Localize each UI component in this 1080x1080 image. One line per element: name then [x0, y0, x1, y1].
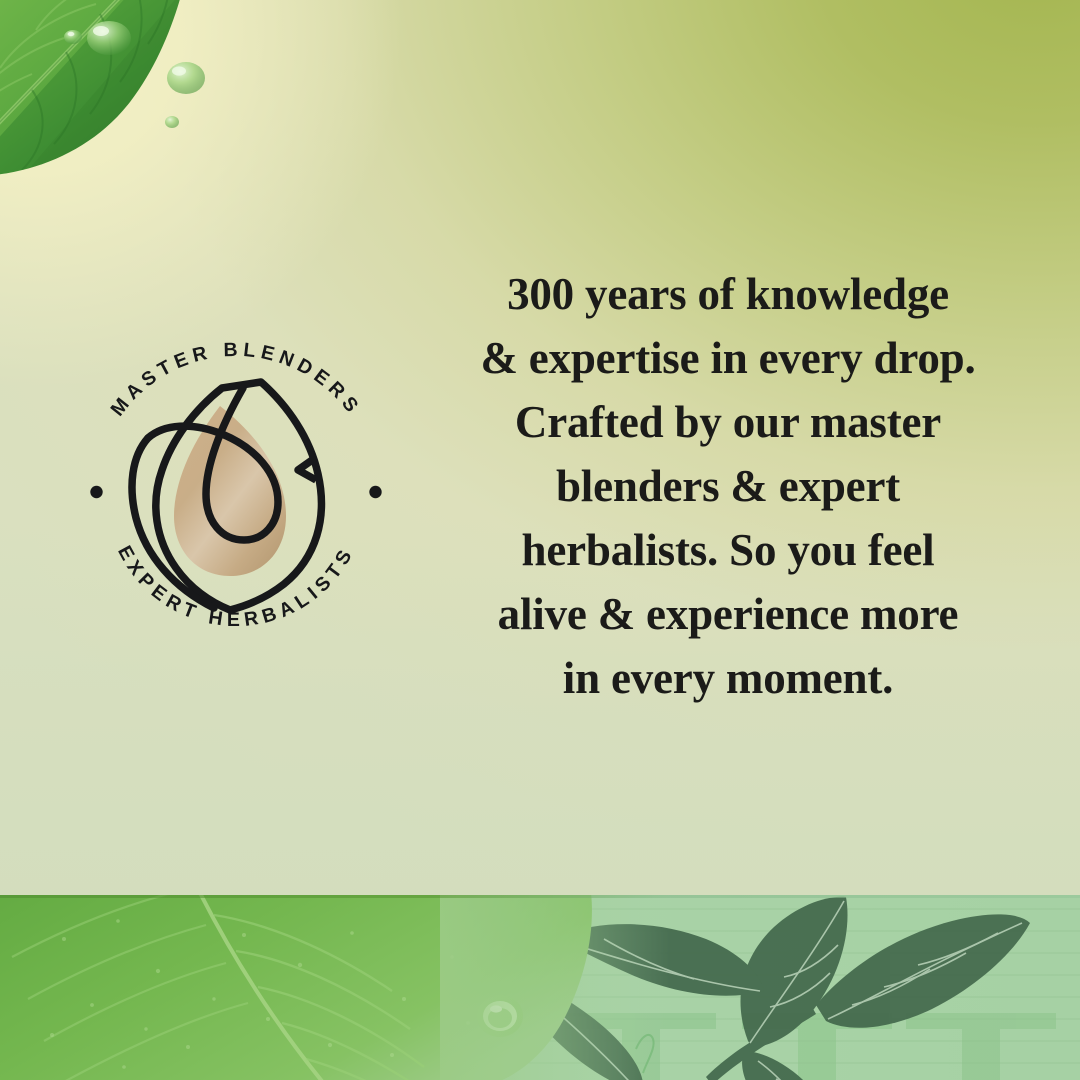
fresh-leaf-photo: [0, 0, 234, 226]
headline-line: in every moment.: [398, 646, 1058, 710]
headline-line: herbalists. So you feel: [398, 518, 1058, 582]
seal-dot-right: [369, 486, 381, 498]
banner-stage: MASTER BLENDERS EXPERT HERBALISTS 300 ye…: [0, 0, 1080, 1080]
headline-line: 300 years of knowledge: [398, 262, 1058, 326]
seal-dot-left: [90, 486, 102, 498]
seal-gold-droplet: [174, 406, 286, 576]
headline-line: & expertise in every drop.: [398, 326, 1058, 390]
headline-copy: 300 years of knowledge & expertise in ev…: [398, 262, 1058, 710]
bottom-imagery-band: [0, 895, 1080, 1080]
master-blenders-seal: MASTER BLENDERS EXPERT HERBALISTS: [70, 330, 402, 662]
headline-line: blenders & expert: [398, 454, 1058, 518]
band-top-edge: [0, 895, 1080, 898]
headline-line: alive & experience more: [398, 582, 1058, 646]
headline-line: Crafted by our master: [398, 390, 1058, 454]
